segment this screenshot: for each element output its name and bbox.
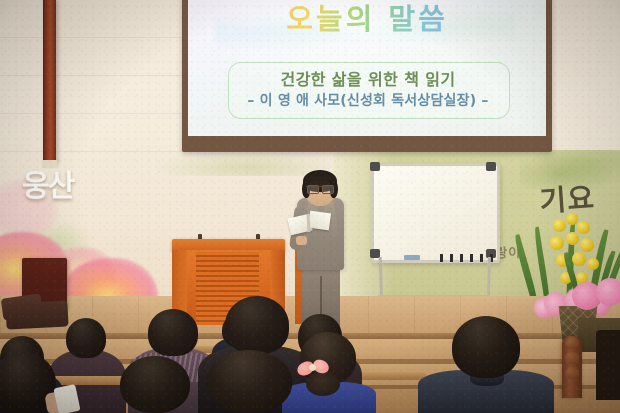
beam-base <box>42 160 57 168</box>
hair-bun <box>306 372 340 396</box>
hair-bow-center <box>309 364 316 371</box>
photo-scene: 웅산 기요 하나님은 사랑이 오늘의 말씀 건강한 삶을 위한 책 읽기 – 이… <box>0 0 620 413</box>
wooden-wall-beam <box>43 0 56 165</box>
stage-chair-seat <box>5 300 68 329</box>
yellow-orchid-bloom <box>550 236 564 250</box>
whiteboard-corner-icon <box>370 162 380 171</box>
wall-panel-lines <box>0 0 200 160</box>
speaker-hand <box>296 236 307 245</box>
yellow-orchid-bloom <box>553 219 566 232</box>
yellow-orchid-bloom <box>577 221 590 234</box>
pew-back <box>356 372 426 380</box>
yellow-orchid-bloom <box>566 232 579 245</box>
pew-shadow <box>596 330 620 400</box>
pew-knob <box>565 337 579 349</box>
wall-calligraphy: 기요 <box>538 174 612 239</box>
whiteboard-surface <box>371 163 500 263</box>
whiteboard-eraser <box>404 255 420 260</box>
slide-heading: 오늘의 말씀 <box>188 0 546 38</box>
yellow-orchid-bloom <box>587 258 599 270</box>
wall-green-splash-left <box>150 148 330 176</box>
audience-head-front <box>206 350 292 413</box>
audience-head <box>66 318 106 358</box>
open-book-right-page <box>308 211 331 231</box>
yellow-orchid-bloom <box>580 238 594 252</box>
pew-knob <box>565 367 579 379</box>
audience-head-front <box>120 356 190 413</box>
slide-speaker-line: – 이 영 애 사모(신성회 독서상담실장) – <box>228 90 508 110</box>
pink-bouquet-bloom <box>596 278 620 306</box>
audience-head-front <box>452 316 520 378</box>
yellow-orchid-bloom <box>566 213 578 225</box>
yellow-orchid-bloom <box>572 252 586 266</box>
audience-head <box>225 296 289 354</box>
audience-head <box>148 309 198 356</box>
slide-subject-line: 건강한 삶을 위한 책 읽기 <box>228 66 508 90</box>
whiteboard-corner-icon <box>486 162 496 171</box>
pew-knob <box>565 352 579 364</box>
wall-korean-letters: 웅산 <box>22 172 90 224</box>
eyeglasses-bridge <box>306 186 334 193</box>
